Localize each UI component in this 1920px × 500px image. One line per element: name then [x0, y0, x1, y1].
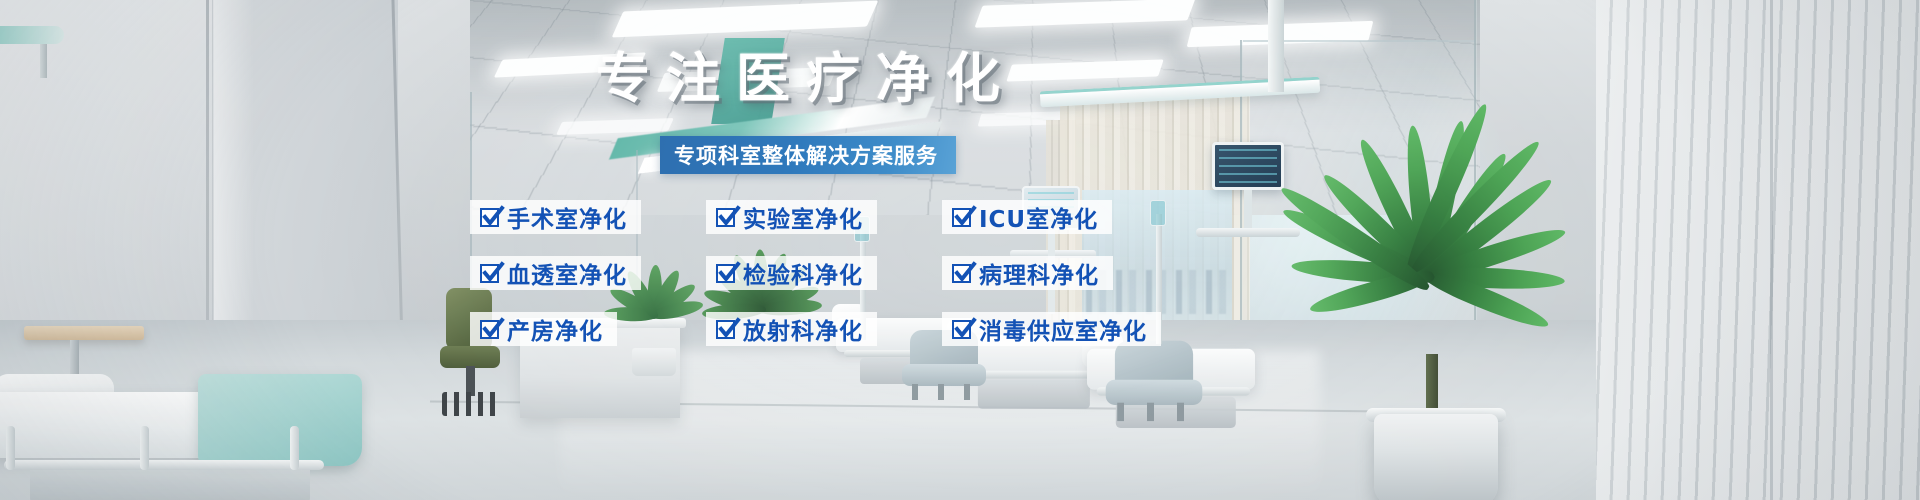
- checklist-row: 血透室净化 检验科净化 病理: [470, 256, 1230, 290]
- checklist-item[interactable]: 实验室净化: [706, 200, 877, 234]
- checkbox-checked-icon[interactable]: [952, 320, 971, 339]
- checkbox-checked-icon[interactable]: [480, 320, 499, 339]
- checkbox-checked-icon[interactable]: [480, 208, 499, 227]
- checkbox-checked-icon[interactable]: [480, 264, 499, 283]
- checklist-item-label: 检验科净化: [743, 256, 863, 290]
- checkbox-checked-icon[interactable]: [952, 264, 971, 283]
- checklist-item-label: 放射科净化: [743, 312, 863, 346]
- service-checklist: 手术室净化 实验室净化 IC: [470, 200, 1230, 346]
- checklist-item-label: 手术室净化: [507, 200, 627, 234]
- checklist-item[interactable]: 手术室净化: [470, 200, 641, 234]
- checkbox-checked-icon[interactable]: [716, 208, 735, 227]
- checklist-item[interactable]: 放射科净化: [706, 312, 877, 346]
- checkbox-checked-icon[interactable]: [952, 208, 971, 227]
- checklist-item[interactable]: 消毒供应室净化: [942, 312, 1161, 346]
- checklist-item-label: ICU室净化: [979, 200, 1098, 234]
- banner-subtitle-text: 专项科室整体解决方案服务: [674, 140, 938, 170]
- checklist-row: 产房净化 放射科净化 消毒供: [470, 312, 1230, 346]
- checklist-item[interactable]: ICU室净化: [942, 200, 1112, 234]
- checklist-item-label: 血透室净化: [507, 256, 627, 290]
- checklist-item-label: 病理科净化: [979, 256, 1099, 290]
- checklist-item-label: 实验室净化: [743, 200, 863, 234]
- checkbox-checked-icon[interactable]: [716, 264, 735, 283]
- banner-headline: 专注医疗净化: [596, 44, 1316, 114]
- banner-content: 专注医疗净化 专项科室整体解决方案服务 手术室净化: [0, 0, 1920, 500]
- checklist-row: 手术室净化 实验室净化 IC: [470, 200, 1230, 234]
- checklist-item[interactable]: 血透室净化: [470, 256, 641, 290]
- checklist-item[interactable]: 产房净化: [470, 312, 617, 346]
- hero-banner: 专注医疗净化 专项科室整体解决方案服务 手术室净化: [0, 0, 1920, 500]
- banner-subtitle-bar: 专项科室整体解决方案服务: [660, 136, 956, 174]
- checkbox-checked-icon[interactable]: [716, 320, 735, 339]
- checklist-item-label: 产房净化: [507, 312, 603, 346]
- checklist-item[interactable]: 病理科净化: [942, 256, 1113, 290]
- checklist-item-label: 消毒供应室净化: [979, 312, 1147, 346]
- checklist-item[interactable]: 检验科净化: [706, 256, 877, 290]
